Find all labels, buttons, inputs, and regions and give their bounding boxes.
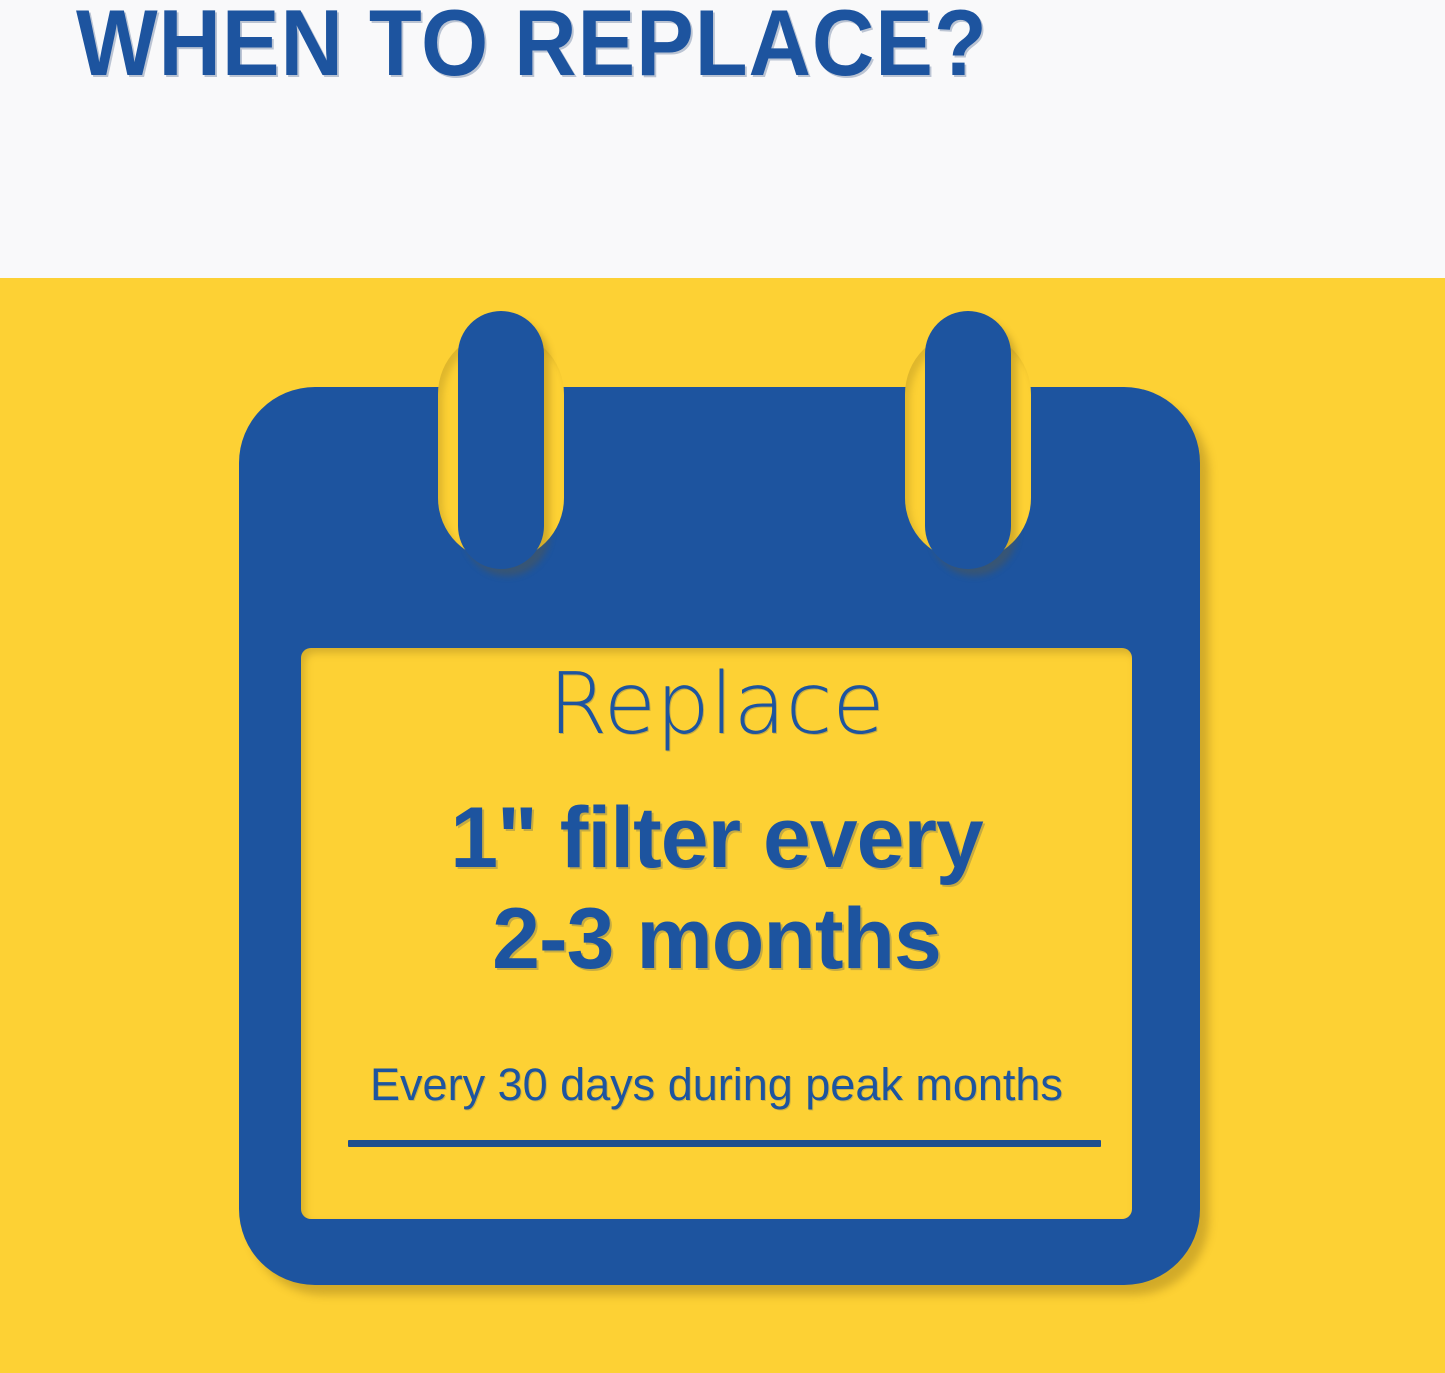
- page-title: WHEN TO REPLACE?: [76, 0, 988, 93]
- subnote-underline: [348, 1140, 1101, 1147]
- replace-subnote-text: Every 30 days during peak months: [301, 1060, 1132, 1110]
- replace-headline: 1" filter every 2-3 months: [301, 788, 1132, 989]
- calendar-page-window: Replace 1" filter every 2-3 months Every…: [301, 648, 1132, 1219]
- binder-ring-right: [925, 311, 1011, 569]
- replace-headline-line-2: 2-3 months: [301, 889, 1132, 990]
- binder-ring-left: [458, 311, 544, 569]
- calendar-icon: Replace 1" filter every 2-3 months Every…: [239, 387, 1200, 1285]
- yellow-content-panel: Replace 1" filter every 2-3 months Every…: [0, 278, 1445, 1373]
- replace-headline-line-1: 1" filter every: [301, 788, 1132, 889]
- replace-eyebrow-text: Replace: [301, 662, 1132, 747]
- infographic-canvas: WHEN TO REPLACE? Replace 1" filter every…: [0, 0, 1445, 1373]
- header-band: WHEN TO REPLACE?: [0, 0, 1445, 278]
